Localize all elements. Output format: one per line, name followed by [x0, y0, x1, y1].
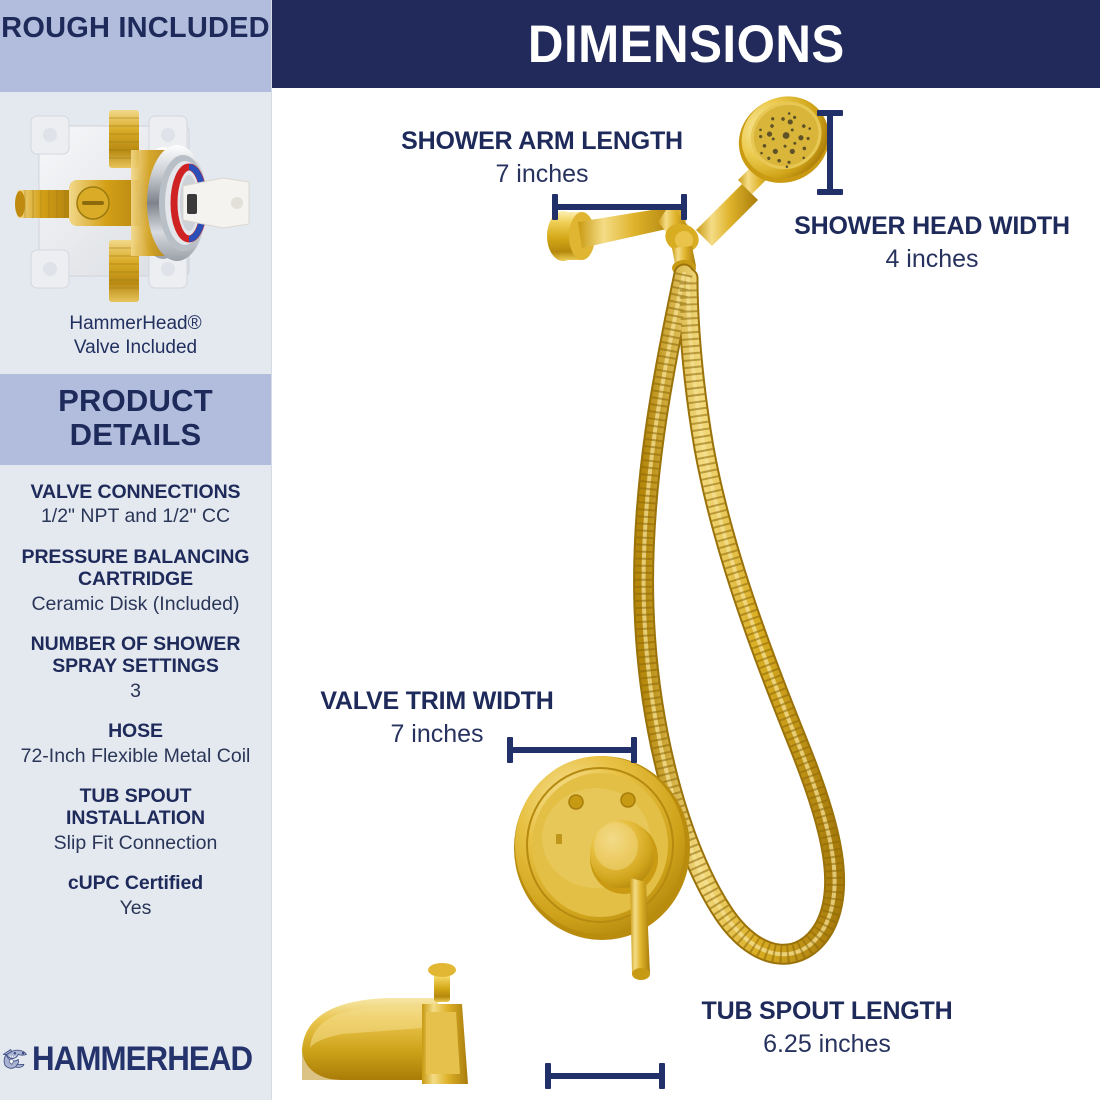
spec-key: VALVE CONNECTIONS — [12, 481, 259, 503]
dimensions-title-bar: DIMENSIONS — [272, 0, 1100, 88]
spec-item: PRESSURE BALANCING CARTRIDGE Ceramic Dis… — [0, 546, 271, 616]
spec-list: VALVE CONNECTIONS 1/2" NPT and 1/2" CC P… — [0, 465, 271, 920]
valve-caption-line-2: Valve Included — [0, 336, 271, 360]
spec-item: TUB SPOUT INSTALLATION Slip Fit Connecti… — [0, 785, 271, 855]
callout-shower-head-width: SHOWER HEAD WIDTH 4 inches — [762, 213, 1100, 275]
callout-valve-trim-width: VALVE TRIM WIDTH 7 inches — [292, 688, 582, 750]
spec-value: Slip Fit Connection — [12, 832, 259, 855]
callout-shower-arm-length: SHOWER ARM LENGTH 7 inches — [372, 128, 712, 190]
spec-key: TUB SPOUT INSTALLATION — [12, 785, 259, 830]
hammerhead-shark-icon — [0, 1028, 30, 1090]
callout-value: 6.25 inches — [662, 1029, 992, 1060]
tub-spout-measure-bar — [545, 1073, 665, 1079]
rough-included-header: ROUGH INCLUDED — [0, 0, 271, 92]
shower-head-measure-bar — [827, 110, 833, 195]
rough-included-title: ROUGH INCLUDED — [1, 12, 270, 44]
callout-label: SHOWER HEAD WIDTH — [762, 213, 1100, 241]
sidebar: ROUGH INCLUDED — [0, 0, 272, 1100]
callout-value: 7 inches — [372, 159, 712, 190]
shower-arm-measure-bar — [552, 204, 687, 210]
valve-caption: HammerHead® Valve Included — [0, 312, 271, 374]
callout-label: TUB SPOUT LENGTH — [662, 998, 992, 1026]
product-details-title: PRODUCT DETAILS — [58, 383, 213, 453]
spec-item: HOSE 72-Inch Flexible Metal Coil — [0, 720, 271, 768]
callout-value: 7 inches — [292, 719, 582, 750]
rough-valve-image — [0, 92, 271, 318]
spec-value: 72-Inch Flexible Metal Coil — [12, 745, 259, 768]
spec-value: Ceramic Disk (Included) — [12, 593, 259, 616]
callout-tub-spout-length: TUB SPOUT LENGTH 6.25 inches — [662, 998, 992, 1060]
spec-item: cUPC Certified Yes — [0, 872, 271, 920]
spec-key: PRESSURE BALANCING CARTRIDGE — [12, 546, 259, 591]
spec-value: 3 — [12, 680, 259, 703]
callout-label: SHOWER ARM LENGTH — [372, 128, 712, 156]
spec-value: 1/2" NPT and 1/2" CC — [12, 505, 259, 528]
valve-illustration — [11, 98, 261, 313]
spec-item: VALVE CONNECTIONS 1/2" NPT and 1/2" CC — [0, 481, 271, 529]
brand-logo: HAMMERHEAD — [0, 1028, 271, 1090]
callout-label: VALVE TRIM WIDTH — [292, 688, 582, 716]
spec-key: NUMBER OF SHOWER SPRAY SETTINGS — [12, 633, 259, 678]
page-title: DIMENSIONS — [528, 14, 845, 75]
callout-value: 4 inches — [762, 244, 1100, 275]
spec-key: cUPC Certified — [12, 872, 259, 894]
spec-item: NUMBER OF SHOWER SPRAY SETTINGS 3 — [0, 633, 271, 703]
spec-value: Yes — [12, 897, 259, 920]
brand-name: HAMMERHEAD — [32, 1040, 252, 1079]
main-panel: DIMENSIONS — [272, 0, 1100, 1100]
spec-key: HOSE — [12, 720, 259, 742]
product-diagram: SHOWER ARM LENGTH 7 inches SHOWER HEAD W… — [272, 88, 1100, 1100]
product-details-header: PRODUCT DETAILS — [0, 374, 271, 465]
